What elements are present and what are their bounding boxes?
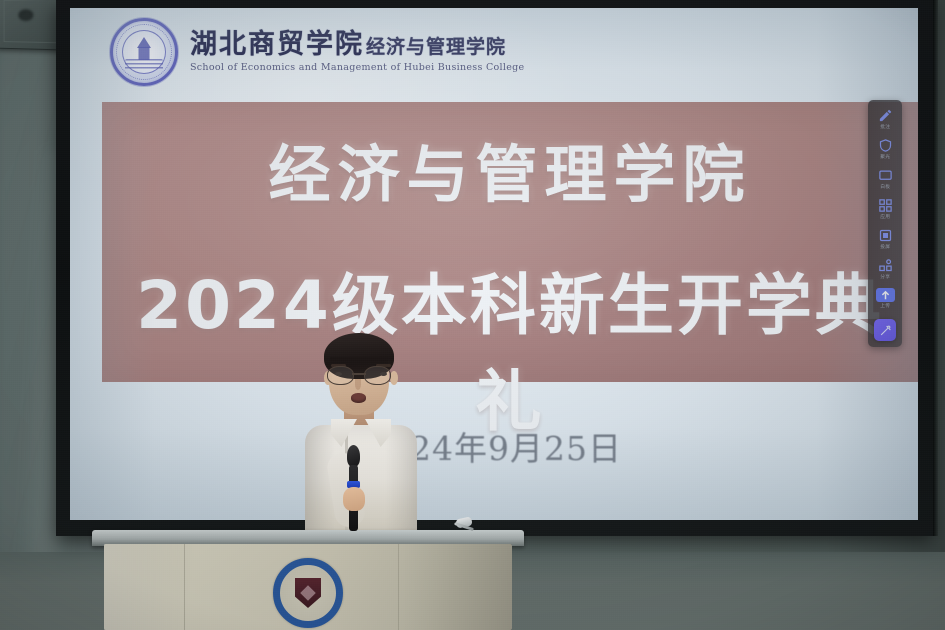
school-name-sub: 经济与管理学院 — [366, 38, 506, 57]
gooseneck-microphone-icon — [450, 518, 480, 536]
toolbar-item-spotlight[interactable]: 聚光 — [870, 138, 900, 160]
screen-icon — [877, 228, 894, 243]
glasses-bridge — [352, 373, 366, 375]
presenter-mouth — [351, 393, 366, 403]
toolbar-item-whiteboard[interactable]: 白板 — [870, 168, 900, 190]
toolbar-item-apps[interactable]: 应用 — [870, 198, 900, 220]
projection-screen-frame: 湖北商贸学院 经济与管理学院 School of Economics and M… — [56, 0, 934, 536]
microphone-head — [347, 445, 360, 467]
toolbar-label-share: 分享 — [880, 275, 890, 280]
whiteboard-icon — [877, 168, 894, 183]
toolbar-item-share[interactable]: 分享 — [870, 258, 900, 280]
share-icon — [877, 258, 894, 273]
presenter-shirt — [305, 425, 417, 543]
lecture-hall-photo: 湖北商贸学院 经济与管理学院 School of Economics and M… — [0, 0, 945, 630]
slide-date-text: 2024年9月25日 — [70, 422, 918, 470]
toolbar-item-screen[interactable]: 投屏 — [870, 228, 900, 250]
toolbar-item-pen[interactable]: 批注 — [870, 108, 900, 130]
school-name-chinese: 湖北商贸学院 经济与管理学院 — [190, 31, 524, 58]
school-name-english: School of Economics and Management of Hu… — [190, 63, 524, 73]
toolbar-label-spotlight: 聚光 — [880, 155, 890, 160]
slide-title-line-2: 2024级本科新生开学典礼 — [102, 252, 918, 444]
lens-left — [327, 366, 354, 385]
annotation-toolbar[interactable]: 批注 聚光 白板 — [868, 100, 902, 347]
projection-screen-surface: 湖北商贸学院 经济与管理学院 School of Economics and M… — [70, 8, 918, 520]
school-crest-emblem-icon — [273, 558, 343, 628]
lens-right — [364, 366, 391, 385]
crest-shield — [295, 578, 321, 608]
podium-panel-seam-right — [398, 544, 399, 630]
seal-wave-lines — [125, 59, 163, 71]
slide-title-band: 经济与管理学院 2024级本科新生开学典礼 — [102, 102, 918, 382]
toolbar-label-screen: 投屏 — [880, 245, 890, 250]
toolbar-label-apps: 应用 — [880, 215, 890, 220]
upload-icon — [876, 288, 895, 302]
presenter — [291, 333, 431, 543]
school-name-main: 湖北商贸学院 — [190, 31, 364, 58]
pen-icon — [877, 108, 894, 123]
presenter-nose — [355, 379, 361, 390]
podium-panel-seam-left — [184, 544, 185, 630]
toolbar-item-upload[interactable]: 上传 — [870, 288, 900, 309]
apps-grid-icon — [877, 198, 894, 213]
toolbar-label-pen: 批注 — [880, 125, 890, 130]
school-name-block: 湖北商贸学院 经济与管理学院 School of Economics and M… — [190, 31, 524, 73]
toolbar-label-whiteboard: 白板 — [880, 185, 890, 190]
presenter-hand — [343, 487, 365, 511]
school-seal-icon — [110, 18, 178, 86]
wall-speaker-cone — [18, 9, 33, 21]
slide-header: 湖北商贸学院 经济与管理学院 School of Economics and M… — [110, 14, 524, 90]
magic-wand-icon[interactable] — [874, 319, 896, 341]
toolbar-label-upload: 上传 — [880, 304, 890, 309]
slide-title-line-1: 经济与管理学院 — [102, 124, 918, 214]
podium — [98, 530, 518, 630]
shield-icon — [877, 138, 894, 153]
